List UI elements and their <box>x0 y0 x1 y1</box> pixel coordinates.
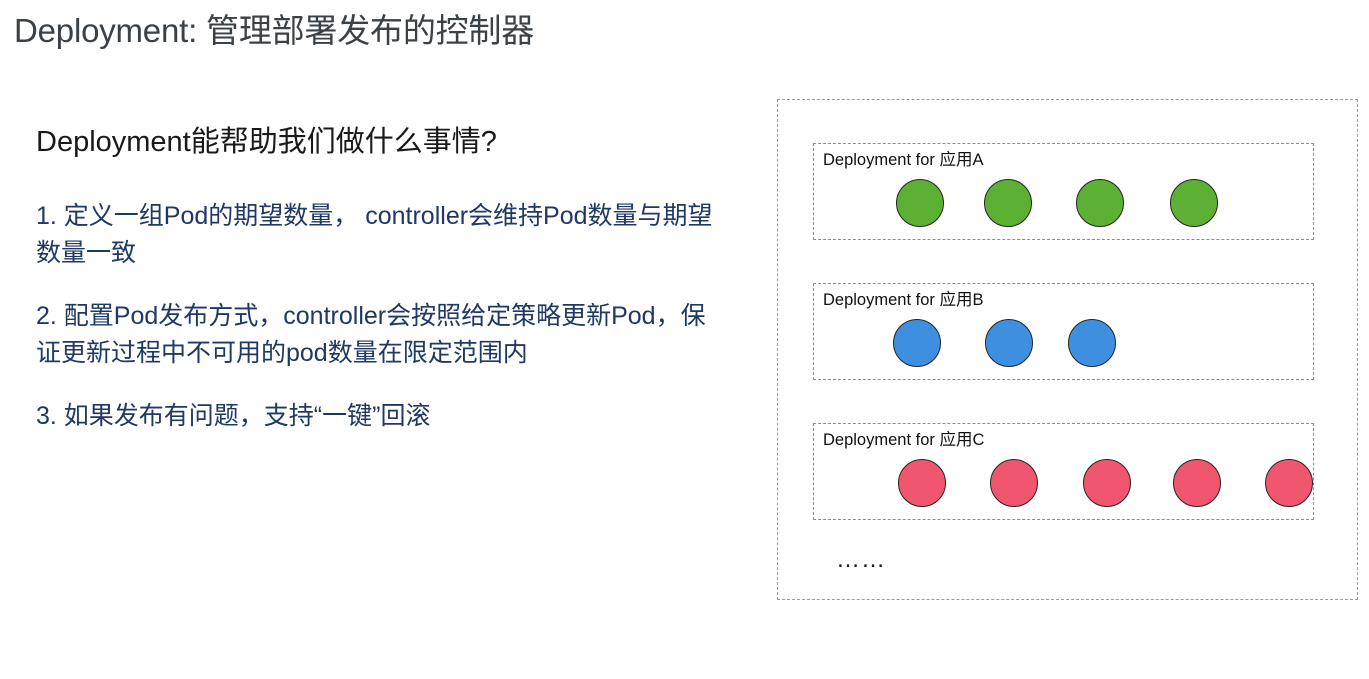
pod-circle <box>990 459 1038 507</box>
pod-circle <box>893 319 941 367</box>
pod-circle <box>1076 179 1124 227</box>
pod-row-b <box>836 316 1307 374</box>
pod-circle <box>984 179 1032 227</box>
deployment-group-a: Deployment for 应用A <box>813 143 1314 240</box>
pod-circle <box>1173 459 1221 507</box>
pod-circle <box>1068 319 1116 367</box>
ellipsis-more-deployments: …… <box>836 548 886 572</box>
deployment-group-c-label: Deployment for 应用C <box>823 430 984 450</box>
pod-circle <box>1083 459 1131 507</box>
deployment-group-a-label: Deployment for 应用A <box>823 150 983 170</box>
pod-circle <box>1265 459 1313 507</box>
cluster-boundary-box: Deployment for 应用A Deployment for 应用B De… <box>777 99 1358 600</box>
deployment-group-c: Deployment for 应用C <box>813 423 1314 520</box>
pod-circle <box>985 319 1033 367</box>
lead-question: Deployment能帮助我们做什么事情? <box>36 122 716 162</box>
pod-row-a <box>836 176 1307 234</box>
bullet-item-1: 1. 定义一组Pod的期望数量， controller会维持Pod数量与期望数量… <box>36 198 716 272</box>
deployment-group-b: Deployment for 应用B <box>813 283 1314 380</box>
pod-circle <box>1170 179 1218 227</box>
pod-circle <box>898 459 946 507</box>
pod-row-c <box>836 456 1307 514</box>
deployment-group-b-label: Deployment for 应用B <box>823 290 983 310</box>
page-title: Deployment: 管理部署发布的控制器 <box>14 4 534 52</box>
pod-circle <box>896 179 944 227</box>
bullet-item-3: 3. 如果发布有问题，支持“一键”回滚 <box>36 398 716 435</box>
bullet-item-2: 2. 配置Pod发布方式，controller会按照给定策略更新Pod，保证更新… <box>36 298 716 372</box>
content-text-column: Deployment能帮助我们做什么事情? 1. 定义一组Pod的期望数量， c… <box>36 122 716 435</box>
